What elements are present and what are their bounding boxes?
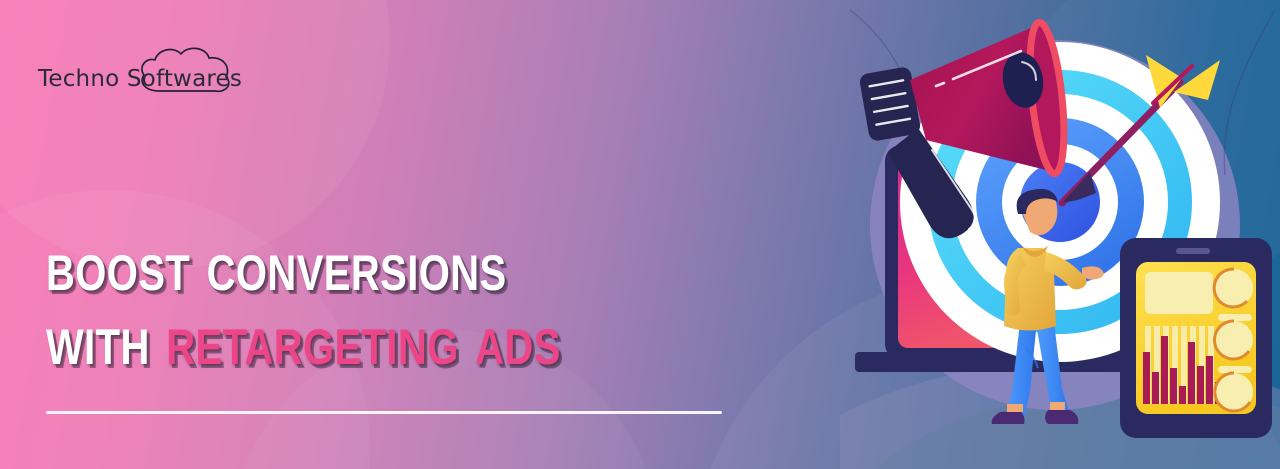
headline: Boost Conversions with Retargeting Ads	[46, 232, 690, 375]
logo[interactable]: Techno Softwares	[38, 44, 238, 106]
logo-text: Techno Softwares	[38, 66, 242, 92]
illustration-svg	[840, 0, 1280, 469]
headline-line-1: Boost Conversions	[46, 232, 561, 300]
headline-line-2: with Retargeting Ads	[46, 306, 561, 374]
tablet-dashboard	[1120, 238, 1272, 438]
retargeting-ads-illustration	[840, 0, 1280, 469]
tablet-gauge-group	[1214, 269, 1253, 425]
headline-line-2-prefix: with	[46, 300, 166, 380]
headline-line-2-highlight: Retargeting Ads	[166, 300, 561, 380]
marketing-banner: Techno Softwares Boost Conversions with …	[0, 0, 1280, 469]
headline-divider	[46, 411, 722, 414]
